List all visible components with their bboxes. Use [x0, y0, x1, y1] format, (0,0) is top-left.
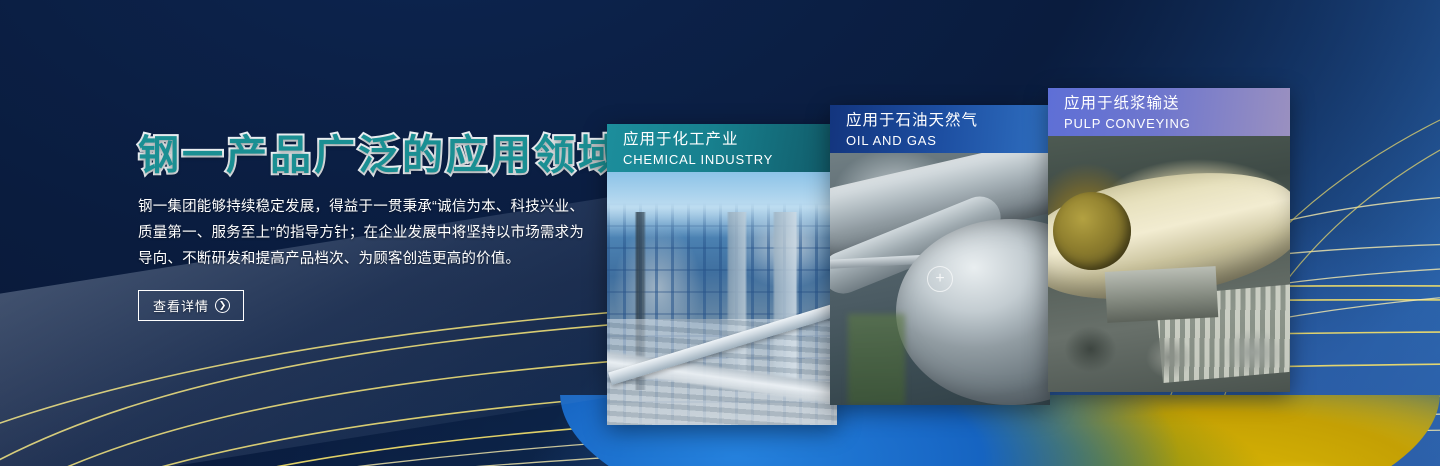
card-title-en: PULP CONVEYING	[1064, 115, 1290, 133]
view-details-button[interactable]: 查看详情 ❯	[138, 290, 244, 321]
banner-copy: 钢一产品广泛的应用领域 钢一集团能够持续稳定发展，得益于一贯秉承“诚信为本、科技…	[138, 134, 608, 321]
banner-description: 钢一集团能够持续稳定发展，得益于一贯秉承“诚信为本、科技兴业、质量第一、服务至上…	[138, 194, 590, 272]
card-title-cn: 应用于石油天然气	[846, 110, 1050, 132]
card-title-cn: 应用于纸浆输送	[1064, 93, 1290, 115]
card-title-en: CHEMICAL INDUSTRY	[623, 151, 837, 169]
application-card-oilgas[interactable]: 应用于石油天然气 OIL AND GAS +	[830, 105, 1050, 405]
chevron-right-circle-icon: ❯	[215, 298, 230, 313]
card-title-cn: 应用于化工产业	[623, 129, 837, 151]
card-header-oilgas: 应用于石油天然气 OIL AND GAS	[830, 105, 1050, 153]
plus-icon[interactable]: +	[927, 266, 953, 292]
card-header-chemical: 应用于化工产业 CHEMICAL INDUSTRY	[607, 124, 837, 172]
card-header-pulp: 应用于纸浆输送 PULP CONVEYING	[1048, 88, 1290, 136]
view-details-label: 查看详情	[153, 296, 209, 315]
application-card-pulp[interactable]: 应用于纸浆输送 PULP CONVEYING	[1048, 88, 1290, 392]
hero-banner: 钢一产品广泛的应用领域 钢一集团能够持续稳定发展，得益于一贯秉承“诚信为本、科技…	[0, 0, 1440, 466]
pulp-paper-machine-photo[interactable]	[1048, 136, 1290, 392]
application-card-chemical[interactable]: 应用于化工产业 CHEMICAL INDUSTRY	[607, 124, 837, 425]
chemical-plant-photo[interactable]	[607, 172, 837, 425]
page-title: 钢一产品广泛的应用领域	[138, 134, 608, 177]
oil-and-gas-plant-photo[interactable]: +	[830, 153, 1050, 405]
card-title-en: OIL AND GAS	[846, 132, 1050, 150]
